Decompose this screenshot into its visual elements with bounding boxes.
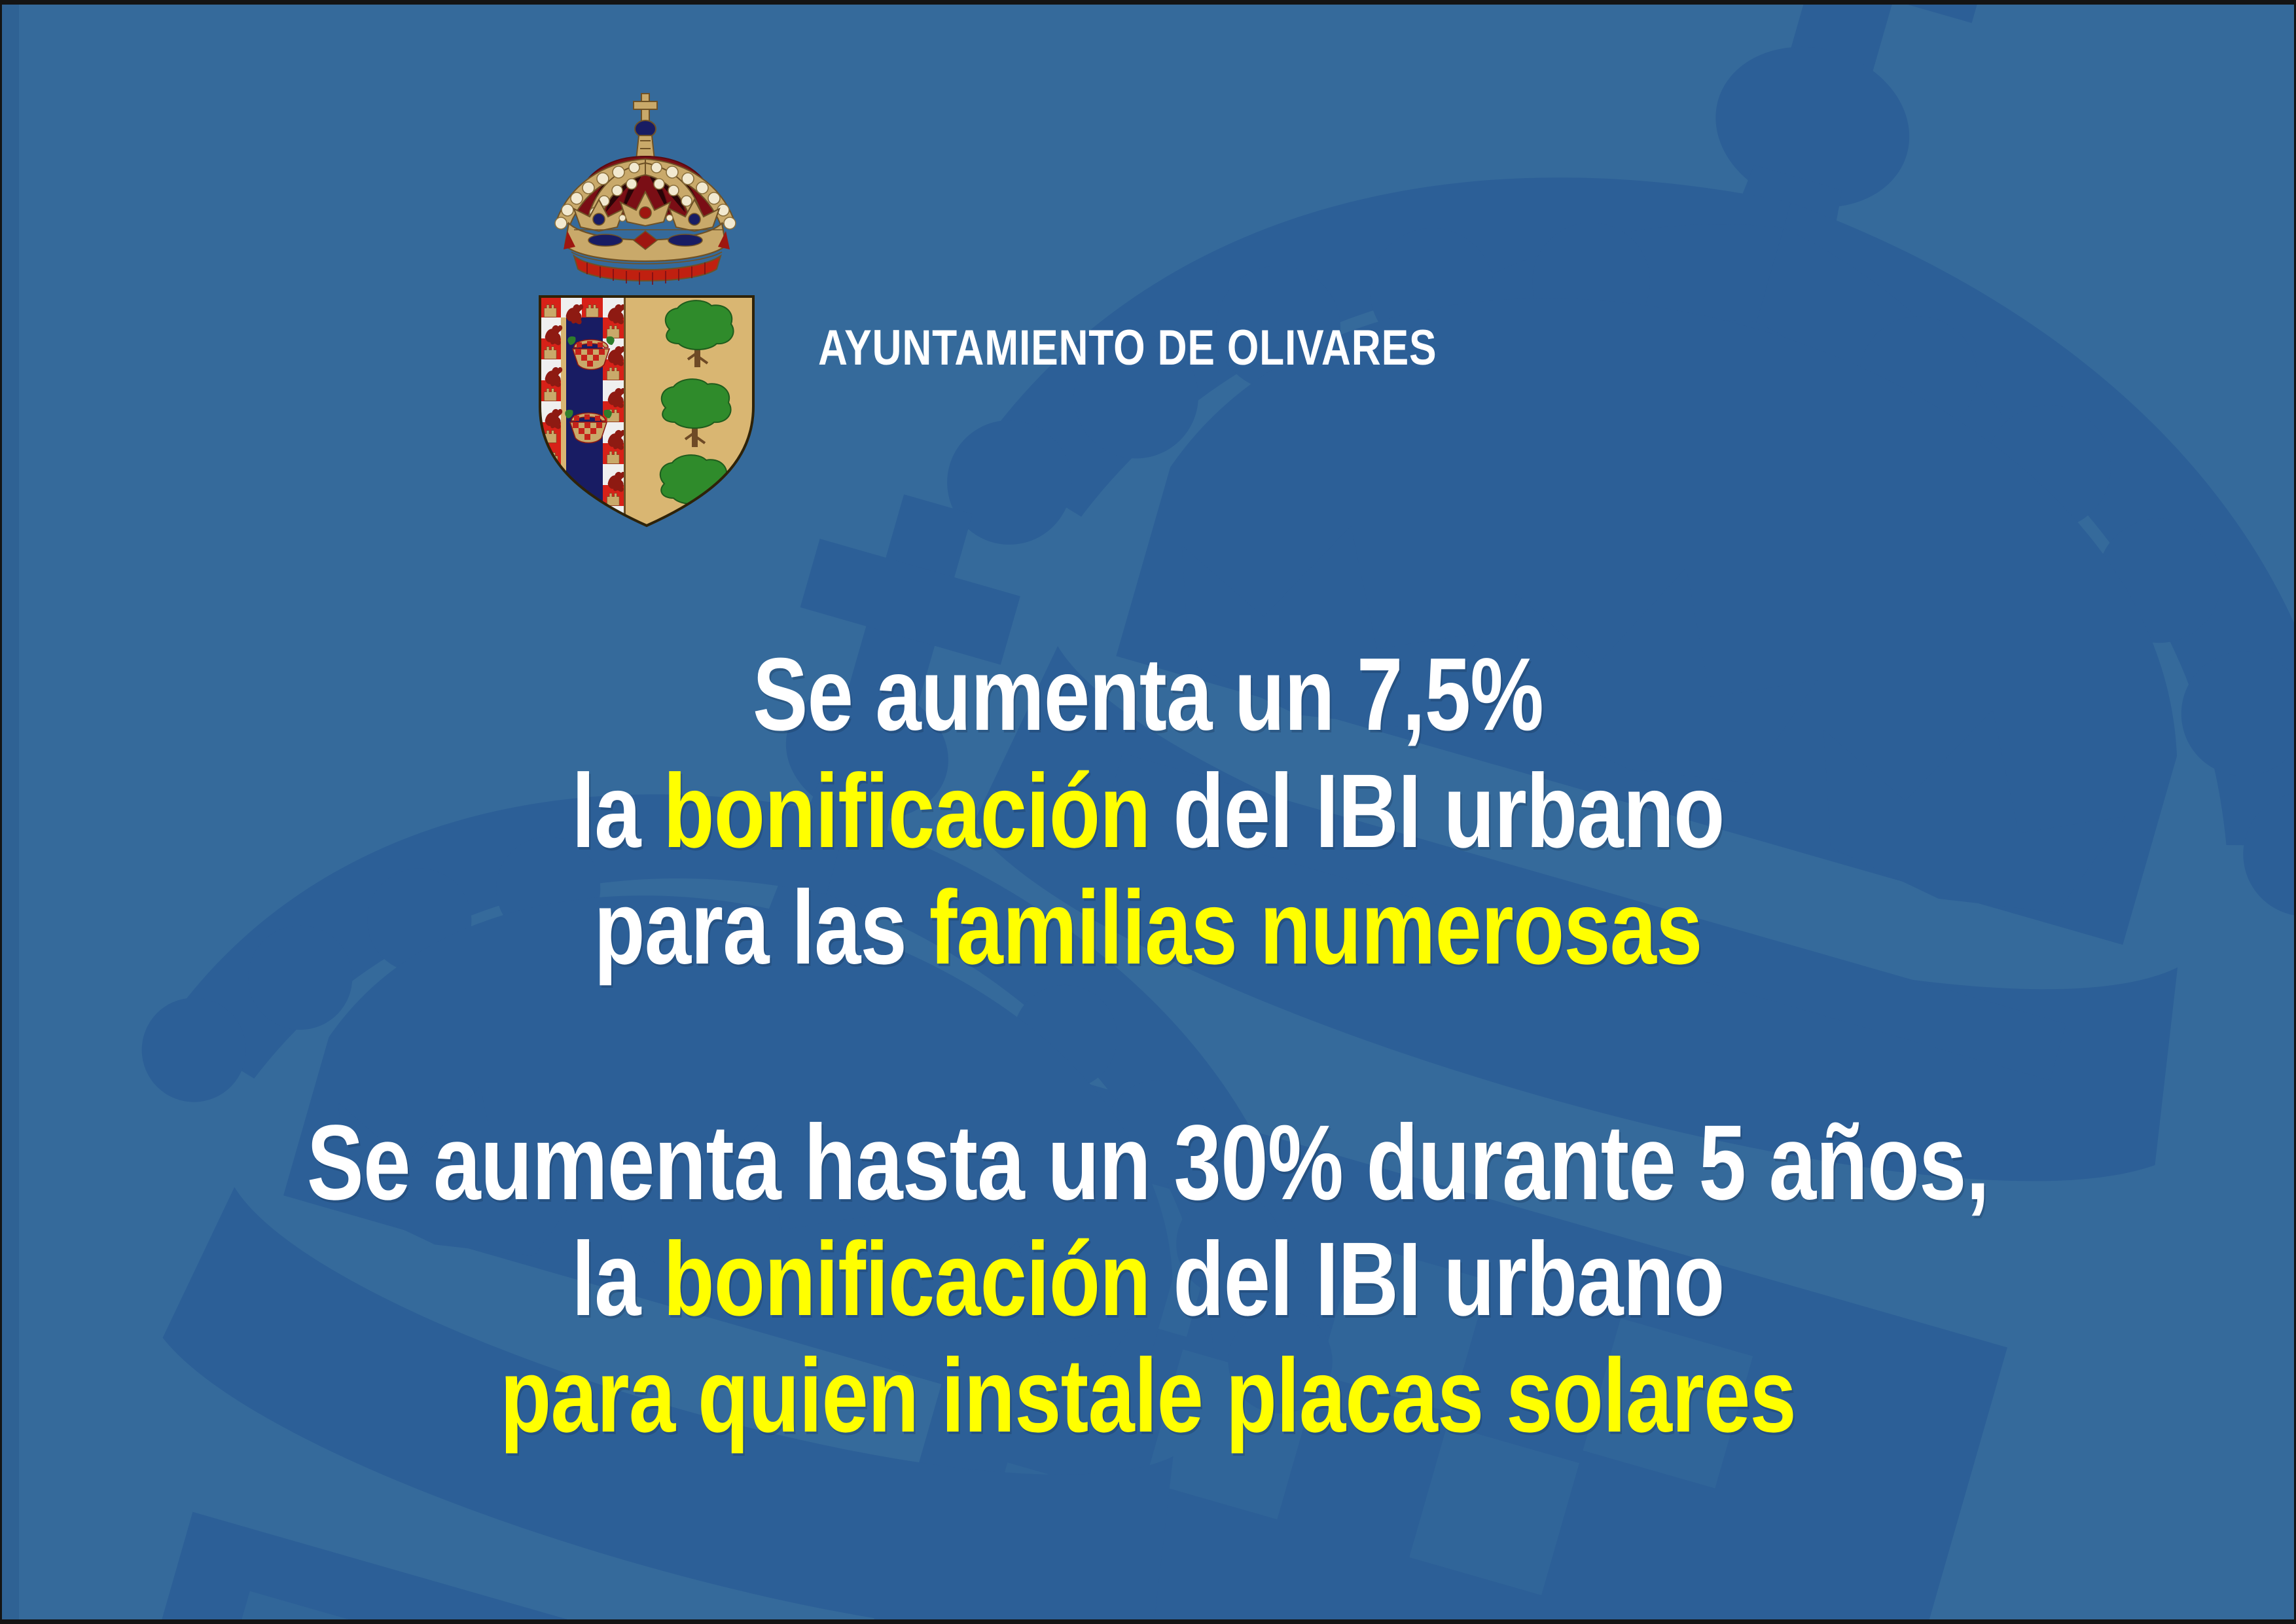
poster-canvas: AYUNTAMIENTO DE OLIVARES Se aumenta un 7… xyxy=(0,0,2296,1624)
message-line: la bonificación del IBI urbano xyxy=(231,1221,2065,1337)
message-line: para quien instale placas solares xyxy=(231,1337,2065,1454)
message-line: la bonificación del IBI urbano xyxy=(231,753,2065,869)
shield-icon xyxy=(540,291,761,536)
text-run-highlight: familias numerosas xyxy=(929,869,1702,986)
text-run-highlight: para quien instale placas solares xyxy=(500,1337,1796,1454)
message-line: Se aumenta hasta un 30% durante 5 años, xyxy=(231,1104,2065,1221)
olivares-coat-of-arms xyxy=(506,88,787,547)
message-line: Se aumenta un 7,5% xyxy=(231,636,2065,753)
poster-header: AYUNTAMIENTO DE OLIVARES xyxy=(2,5,2294,554)
text-run: la xyxy=(571,1220,663,1337)
organization-title: AYUNTAMIENTO DE OLIVARES xyxy=(818,323,1437,373)
text-run: la xyxy=(571,752,663,869)
text-run: Se aumenta un 7,5% xyxy=(753,637,1543,752)
message-line: para las familias numerosas xyxy=(231,869,2065,986)
text-run: del IBI urbano xyxy=(1151,1220,1725,1337)
text-run: Se aumenta hasta un 30% durante 5 años, xyxy=(307,1102,1989,1222)
text-run-highlight: bonificación xyxy=(663,1220,1150,1337)
text-run: para las xyxy=(594,869,929,986)
message-block-placas-solares: Se aumenta hasta un 30% durante 5 años, … xyxy=(2,1104,2294,1454)
message-block-familias-numerosas: Se aumenta un 7,5% la bonificación del I… xyxy=(2,636,2294,986)
text-run: del IBI urbano xyxy=(1151,752,1725,869)
text-run-highlight: bonificación xyxy=(663,752,1150,869)
olive-trees xyxy=(660,300,734,526)
royal-crown-icon xyxy=(555,94,736,285)
